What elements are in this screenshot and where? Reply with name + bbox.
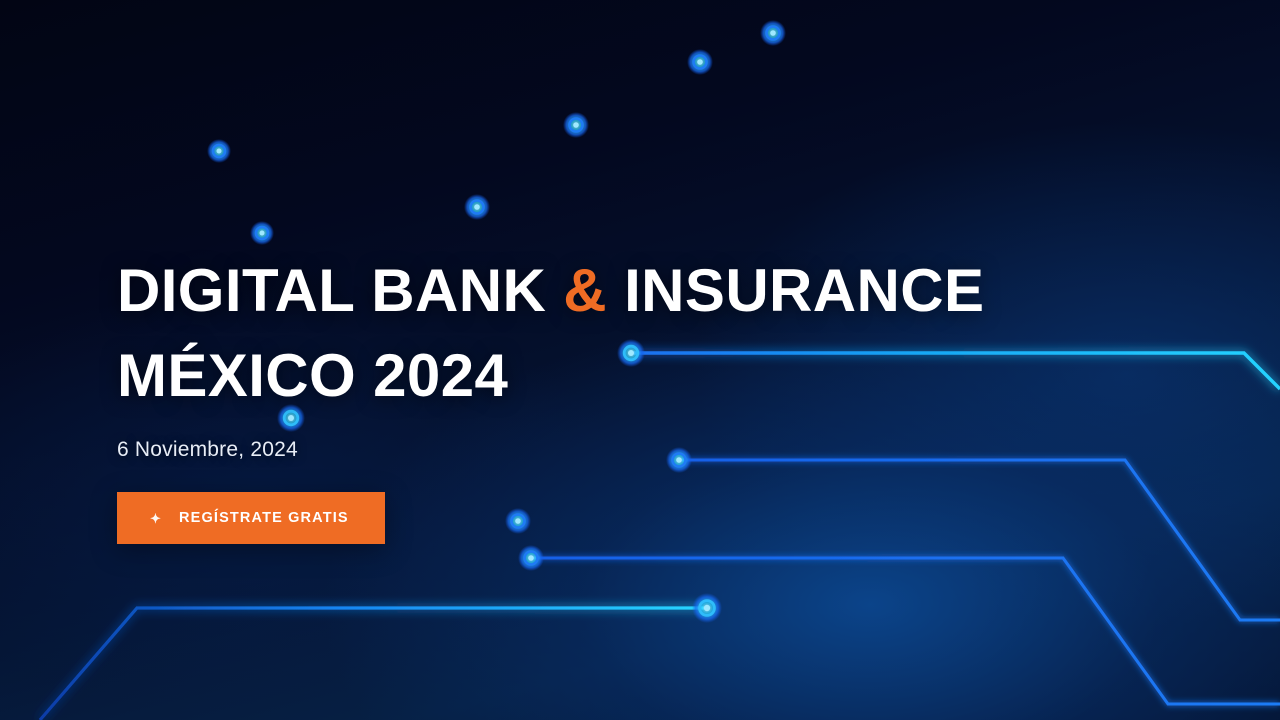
circuit-node-4 <box>213 145 225 157</box>
hero-banner: DIGITAL BANK & INSURANCE MÉXICO 2024 6 N… <box>0 0 1280 720</box>
circuit-node-12 <box>700 601 715 616</box>
title-ampersand: & <box>563 257 607 324</box>
circuit-node-2 <box>694 56 707 69</box>
circuit-node-3 <box>570 119 583 132</box>
title-line-two: MÉXICO 2024 <box>117 333 1037 418</box>
circuit-node-6 <box>256 227 268 239</box>
circuit-node-1 <box>767 27 780 40</box>
register-button-label: REGÍSTRATE GRATIS <box>179 510 349 526</box>
register-button[interactable]: ✦ REGÍSTRATE GRATIS <box>117 492 385 544</box>
circuit-line-12 <box>40 608 707 720</box>
plus-icon: ✦ <box>150 512 162 525</box>
event-date: 6 Noviembre, 2024 <box>117 438 1037 462</box>
circuit-line-11 <box>531 558 1280 704</box>
title-part-digital-bank: DIGITAL BANK <box>117 257 563 324</box>
circuit-node-11 <box>525 552 538 565</box>
circuit-node-5 <box>471 201 484 214</box>
title-part-insurance: INSURANCE <box>607 257 984 324</box>
page-title: DIGITAL BANK & INSURANCE MÉXICO 2024 <box>117 248 1037 418</box>
hero-content: DIGITAL BANK & INSURANCE MÉXICO 2024 6 N… <box>117 248 1037 544</box>
